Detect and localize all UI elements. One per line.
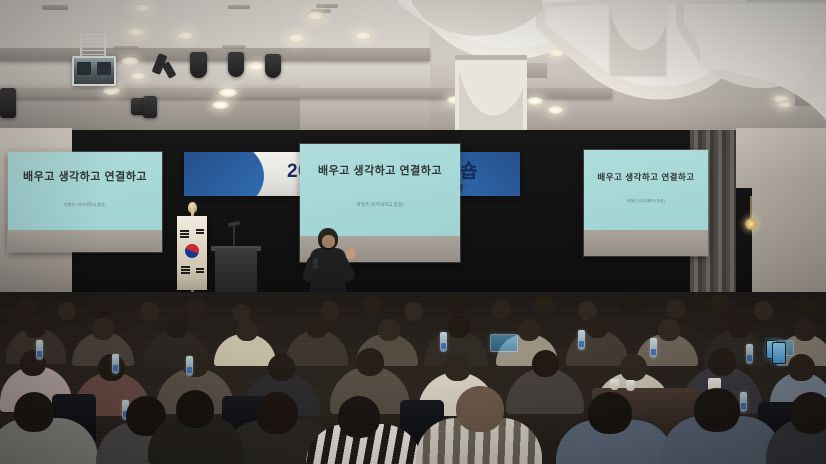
water-bottle bbox=[440, 332, 447, 352]
conference-hall-photo: 배우고 생각하고 연결하고 박형주 (아주대학교 총장) 2019년 권 일시 … bbox=[0, 0, 826, 464]
audience-head-foreground bbox=[588, 392, 632, 434]
audience-head bbox=[58, 302, 76, 320]
air-vent bbox=[222, 45, 246, 49]
audience-head bbox=[796, 295, 817, 316]
downlight bbox=[121, 57, 139, 66]
downlight bbox=[176, 31, 195, 40]
center-slide-subtitle: 박형주 (아주대학교 총장) bbox=[357, 202, 404, 208]
downlight bbox=[247, 62, 265, 71]
audience-head bbox=[236, 319, 258, 341]
audience-head bbox=[166, 316, 188, 338]
wall-sconce-light bbox=[745, 196, 757, 236]
audience-head bbox=[620, 354, 647, 381]
audience-head bbox=[492, 300, 511, 319]
audience-head bbox=[96, 296, 116, 316]
audience-head bbox=[754, 301, 773, 320]
audience-head-bald bbox=[456, 386, 504, 432]
audience-head-foreground bbox=[14, 392, 54, 432]
audience-head bbox=[788, 354, 815, 381]
audience-head-foreground bbox=[338, 396, 380, 438]
downlight bbox=[354, 31, 372, 40]
audience-head bbox=[92, 318, 114, 340]
downlight bbox=[103, 86, 120, 95]
right-projection-screen: 배우고 생각하고 연결하고 박형주 (아주대학교 총장) bbox=[584, 150, 708, 256]
audience-head bbox=[586, 316, 608, 338]
sconce-bulb bbox=[745, 218, 757, 230]
speaker-raised-hand bbox=[346, 248, 356, 259]
ceiling-speaker bbox=[228, 52, 244, 77]
water-bottle bbox=[740, 392, 747, 412]
audience-head bbox=[24, 316, 46, 338]
center-slide: 배우고 생각하고 연결하고 박형주 (아주대학교 총장) bbox=[300, 144, 460, 236]
audience-head bbox=[708, 348, 736, 376]
left-projection-screen: 배우고 생각하고 연결하고 박형주 (아주대학교 총장) bbox=[8, 152, 162, 252]
left-screen-border bbox=[8, 230, 162, 252]
audience-head bbox=[518, 319, 540, 341]
water-bottle bbox=[36, 340, 43, 360]
center-slide-title: 배우고 생각하고 연결하고 bbox=[318, 162, 442, 178]
water-bottle bbox=[746, 344, 753, 364]
draped-fabric-swag bbox=[700, 24, 826, 124]
coffee-cup bbox=[626, 380, 635, 391]
sconce-stem bbox=[750, 196, 752, 220]
audience-head bbox=[276, 296, 296, 316]
air-vent bbox=[113, 46, 139, 50]
trigram-bar bbox=[196, 229, 204, 231]
south-korean-flag bbox=[177, 216, 207, 290]
trigram-bar bbox=[181, 272, 190, 274]
audience-head bbox=[728, 316, 750, 338]
audience-head bbox=[306, 316, 328, 338]
right-slide-subtitle: 박형주 (아주대학교 총장) bbox=[627, 199, 664, 204]
downlight bbox=[287, 33, 306, 43]
handheld-microphone bbox=[313, 258, 318, 269]
air-vent bbox=[316, 4, 338, 8]
water-bottle bbox=[578, 330, 585, 350]
hanging-fabric-panel bbox=[608, 0, 668, 78]
right-upper-wall bbox=[736, 128, 826, 188]
ceiling-projector bbox=[72, 56, 116, 86]
audience-head bbox=[356, 348, 384, 376]
audience-head bbox=[268, 354, 295, 381]
ceiling-speaker bbox=[143, 96, 157, 118]
audience-head bbox=[794, 319, 816, 341]
audience-head-foreground bbox=[176, 390, 214, 428]
audience-seating-area bbox=[0, 292, 826, 464]
left-slide: 배우고 생각하고 연결하고 박형주 (아주대학교 총장) bbox=[8, 152, 162, 230]
banner-fragment-subtitle: 호텔 bbox=[450, 183, 520, 193]
audience-head bbox=[362, 296, 382, 316]
taeguk-symbol bbox=[185, 244, 199, 258]
smartphone[interactable] bbox=[772, 342, 786, 364]
right-slide-title: 배우고 생각하고 연결하고 bbox=[597, 171, 694, 183]
downlight bbox=[126, 27, 146, 37]
trigram-bar bbox=[196, 271, 204, 273]
downlight bbox=[133, 3, 152, 13]
ceiling-speaker bbox=[265, 54, 281, 78]
trigram-bar bbox=[180, 236, 189, 238]
right-slide: 배우고 생각하고 연결하고 박형주 (아주대학교 총장) bbox=[584, 150, 708, 230]
air-vent bbox=[42, 5, 68, 10]
projector-mount-frame bbox=[80, 34, 106, 58]
trigram-bar bbox=[196, 232, 204, 234]
trigram-bar bbox=[180, 230, 189, 232]
audience-head-foreground bbox=[694, 388, 740, 432]
audience-head bbox=[378, 319, 400, 341]
laptop-screen[interactable] bbox=[490, 334, 518, 352]
audience-head bbox=[532, 350, 559, 377]
trigram-bar bbox=[181, 266, 190, 268]
trigram-bar bbox=[180, 233, 189, 235]
audience-head bbox=[448, 294, 468, 314]
audience-head bbox=[16, 298, 36, 318]
audience-head bbox=[404, 302, 423, 321]
audience-head bbox=[140, 302, 159, 321]
trigram-bar bbox=[181, 269, 190, 271]
audience-head bbox=[444, 354, 471, 381]
audience-head bbox=[710, 294, 730, 314]
draped-fabric-swag bbox=[412, 0, 542, 60]
downlight bbox=[219, 88, 237, 97]
downlight bbox=[212, 101, 229, 109]
audience-head bbox=[666, 300, 685, 319]
wall-speaker bbox=[0, 88, 16, 118]
audience-head-foreground bbox=[256, 392, 298, 434]
left-slide-subtitle: 박형주 (아주대학교 총장) bbox=[64, 202, 106, 208]
water-bottle bbox=[112, 354, 119, 374]
audience-head bbox=[186, 298, 206, 318]
trigram-bar bbox=[196, 268, 204, 270]
audience-head bbox=[534, 295, 554, 315]
downlight bbox=[130, 72, 146, 80]
audience-head bbox=[448, 316, 470, 338]
audience-head-foreground bbox=[790, 392, 826, 434]
air-vent bbox=[228, 5, 250, 9]
audience-head bbox=[658, 319, 680, 341]
left-slide-title: 배우고 생각하고 연결하고 bbox=[23, 168, 147, 184]
ceiling-speaker bbox=[190, 52, 207, 78]
audience-head bbox=[620, 294, 641, 315]
downlight bbox=[305, 11, 325, 21]
water-bottle bbox=[186, 356, 193, 376]
water-bottle bbox=[650, 338, 657, 358]
speaker-face bbox=[322, 235, 335, 248]
coffee-cup bbox=[610, 379, 619, 390]
right-screen-border bbox=[584, 230, 708, 256]
